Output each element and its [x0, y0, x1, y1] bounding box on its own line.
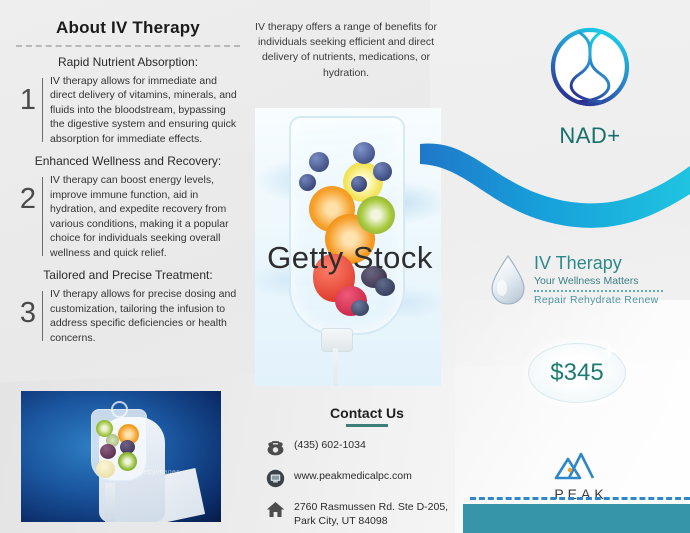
intro-paragraph: IV therapy offers a range of benefits fo…: [248, 20, 444, 81]
peak-medical-logo: PEAK M E D I C A L: [528, 450, 634, 511]
contact-row-website[interactable]: www.peakmedicalpc.com: [262, 467, 472, 489]
contact-row-phone[interactable]: (435) 602-1034: [262, 436, 472, 458]
contact-row-address[interactable]: 2760 Rasmussen Rd. Ste D-205, Park City,…: [262, 498, 472, 528]
blueberry-icon: [309, 152, 329, 172]
list-item: 1 IV therapy allows for immediate and di…: [14, 74, 242, 146]
iv-bag-photo: [255, 108, 441, 386]
iv-stand: [105, 483, 115, 522]
price-value: $345: [550, 359, 603, 387]
peak-dashed-rule: [470, 497, 690, 500]
dna-helix-icon: [547, 24, 633, 110]
point-number-2: 2: [14, 173, 42, 214]
price-badge: $345: [528, 343, 626, 403]
point-number-1: 1: [14, 74, 42, 115]
phone-icon: [262, 436, 288, 458]
berry-icon: [351, 300, 369, 316]
blueberry-icon: [299, 174, 316, 191]
phone-number: (435) 602-1034: [288, 436, 472, 452]
point-body-1: IV therapy allows for immediate and dire…: [50, 74, 242, 146]
list-item: 3 IV therapy allows for precise dosing a…: [14, 287, 242, 345]
footer-teal-bar: [463, 504, 690, 533]
website-url: www.peakmedicalpc.com: [288, 467, 472, 483]
street-address: 2760 Rasmussen Rd. Ste D-205, Park City,…: [288, 498, 472, 528]
point-rule-3: [42, 291, 43, 341]
point-rule-1: [42, 78, 43, 142]
iv-logo-title: IV Therapy: [534, 254, 663, 273]
iv-tube: [333, 348, 338, 386]
point-heading-3: Tailored and Precise Treatment:: [14, 268, 242, 282]
water-droplet-icon: [488, 254, 528, 306]
list-item: 2 IV therapy can boost energy levels, im…: [14, 173, 242, 260]
page-title: About IV Therapy: [14, 18, 242, 38]
iv-therapy-logo: IV Therapy Your Wellness Matters Repair …: [488, 254, 663, 306]
plum-icon: [100, 444, 116, 459]
blueberry-icon: [373, 162, 392, 181]
nad-logo: NAD+: [520, 24, 660, 149]
iv-logo-dotted-rule: [534, 290, 663, 292]
point-heading-2: Enhanced Wellness and Recovery:: [14, 154, 242, 168]
point-body-3: IV therapy allows for precise dosing and…: [50, 287, 242, 345]
kiwi-slice-icon: [118, 452, 137, 471]
point-body-2: IV therapy can boost energy levels, impr…: [50, 173, 242, 260]
website-icon: [262, 467, 288, 489]
title-divider: [16, 45, 240, 47]
pear-icon: [96, 460, 115, 478]
brochure-poster: About IV Therapy Rapid Nutrient Absorpti…: [0, 0, 690, 533]
point-rule-2: [42, 177, 43, 256]
mountain-peak-icon: [550, 450, 612, 480]
photo-watermark: gettyimages: [139, 469, 180, 476]
nad-label: NAD+: [520, 123, 660, 149]
about-section: About IV Therapy Rapid Nutrient Absorpti…: [14, 18, 242, 349]
blueberry-icon: [353, 142, 375, 164]
point-number-3: 3: [14, 287, 42, 328]
point-heading-1: Rapid Nutrient Absorption:: [14, 55, 242, 69]
contact-title: Contact Us: [262, 405, 472, 421]
iv-logo-keywords: Repair Rehydrate Renew: [534, 294, 663, 306]
iv-bag-graphic: [289, 116, 405, 335]
clinician-photo: gettyimages: [21, 391, 221, 522]
blueberry-icon: [351, 176, 367, 192]
home-icon: [262, 498, 288, 520]
contact-underline: [346, 424, 388, 427]
iv-logo-tagline: Your Wellness Matters: [534, 275, 663, 287]
contact-section: Contact Us (435) 602-1034: [262, 405, 472, 533]
kiwi-slice-icon: [357, 196, 395, 234]
berry-icon: [375, 278, 395, 296]
